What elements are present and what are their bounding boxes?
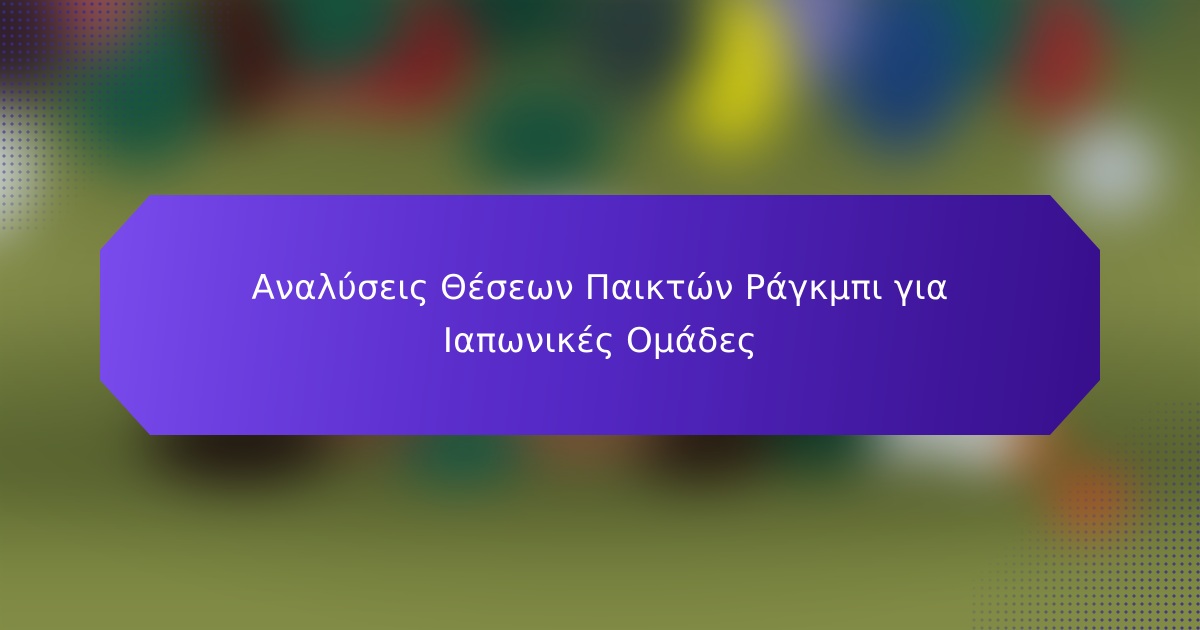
share-card-canvas: Αναλύσεις Θέσεων Παικτών Ράγκμπι για Ιαπ… [0, 0, 1200, 630]
title-banner: Αναλύσεις Θέσεων Παικτών Ράγκμπι για Ιαπ… [100, 195, 1100, 435]
page-title: Αναλύσεις Θέσεων Παικτών Ράγκμπι για Ιαπ… [250, 262, 950, 367]
